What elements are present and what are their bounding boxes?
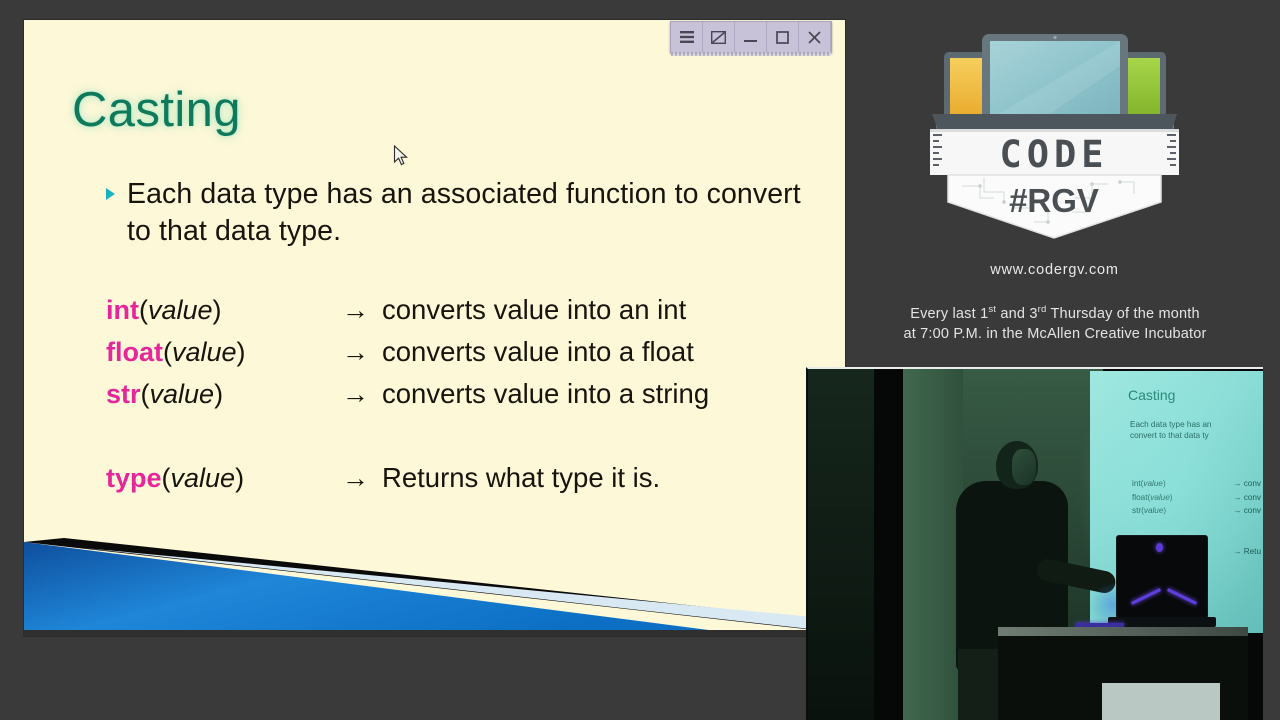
mouse-cursor (393, 145, 409, 167)
function-description: →converts value into a string (342, 378, 709, 410)
list-item: Each data type has an associated functio… (106, 176, 806, 250)
website-url: www.codergv.com (922, 262, 1187, 278)
slide-bullet-list: Each data type has an associated functio… (106, 176, 806, 250)
table-row: str(value) →converts value into a string (106, 378, 826, 420)
function-argument: value (148, 295, 213, 325)
function-name: float (106, 337, 163, 367)
meeting-info: Every last 1st and 3rd Thursday of the m… (855, 300, 1255, 344)
function-name: str (106, 379, 141, 409)
open-paren: ( (162, 463, 171, 493)
description-text: converts value into an int (382, 294, 686, 325)
close-paren: ) (214, 379, 223, 409)
function-signature: float(value) (106, 337, 342, 368)
arrow-icon: → (342, 295, 382, 326)
presentation-slide[interactable]: Casting Each data type has an associated… (24, 20, 845, 636)
podium-top-surface (998, 627, 1248, 636)
table-row: type(value) →Returns what type it is. (106, 462, 826, 504)
function-argument: value (171, 463, 236, 493)
function-signature: type(value) (106, 463, 342, 494)
close-paren: ) (237, 337, 246, 367)
logo-codergv: CODE #RGV (922, 26, 1187, 241)
window-controls[interactable] (670, 21, 832, 53)
hamburger-icon[interactable] (671, 22, 703, 52)
description-text: converts value into a float (382, 336, 694, 367)
function-argument: value (150, 379, 215, 409)
meeting-line-1: Every last 1st and 3rd Thursday of the m… (855, 300, 1255, 324)
arrow-icon: → (342, 379, 382, 410)
logo-word-text: CODE (999, 133, 1108, 176)
function-argument: value (172, 337, 237, 367)
table-row-spacer (106, 420, 826, 462)
window-resize-grip[interactable] (671, 52, 831, 56)
room-wall-lit-bright (903, 369, 963, 720)
close-paren: ) (235, 463, 244, 493)
bullet-text: Each data type has an associated functio… (127, 176, 806, 250)
arrow-icon: → (342, 337, 382, 368)
description-text: converts value into a string (382, 378, 709, 409)
close-icon[interactable] (799, 22, 831, 52)
presenter-face (1012, 449, 1036, 485)
function-name: type (106, 463, 162, 493)
open-paren: ( (163, 337, 172, 367)
function-description: →Returns what type it is. (342, 462, 660, 494)
casting-function-table: int(value) →converts value into an int f… (106, 294, 826, 504)
open-paren: ( (141, 379, 150, 409)
minimize-icon[interactable] (735, 22, 767, 52)
maximize-icon[interactable] (767, 22, 799, 52)
function-signature: str(value) (106, 379, 342, 410)
video-frame-content: Casting Each data type has an convert to… (808, 369, 1263, 720)
meeting-post: Thursday of the month (1047, 306, 1200, 322)
meeting-line-2: at 7:00 P.M. in the McAllen Creative Inc… (855, 324, 1255, 344)
slide-decoration (24, 526, 845, 636)
laptop-base (1108, 617, 1216, 627)
ordinal-suffix-2: rd (1038, 304, 1047, 315)
function-description: →converts value into a float (342, 336, 694, 368)
laptop-logo-icon (1156, 543, 1163, 552)
close-paren: ) (213, 295, 222, 325)
screen-recording-frame: Casting Each data type has an associated… (0, 0, 1280, 720)
open-paren: ( (139, 295, 148, 325)
paper-sheet (1102, 683, 1220, 720)
arrow-icon: → (342, 463, 382, 494)
function-description: →converts value into an int (342, 294, 686, 326)
logo-tag-text: #RGV (1009, 182, 1099, 219)
page-title: Casting (72, 82, 241, 138)
presenter-video-feed[interactable]: Casting Each data type has an convert to… (806, 367, 1263, 720)
meeting-pre: Every last 1 (910, 306, 988, 322)
table-row: int(value) →converts value into an int (106, 294, 826, 336)
no-image-icon[interactable] (703, 22, 735, 52)
room-wall-left (808, 369, 874, 720)
table-row: float(value) →converts value into a floa… (106, 336, 826, 378)
meeting-mid: and 3 (996, 306, 1038, 322)
description-text: Returns what type it is. (382, 462, 660, 493)
bullet-triangle-icon (106, 188, 115, 200)
function-signature: int(value) (106, 295, 342, 326)
function-name: int (106, 295, 139, 325)
ordinal-suffix-1: st (988, 304, 996, 315)
